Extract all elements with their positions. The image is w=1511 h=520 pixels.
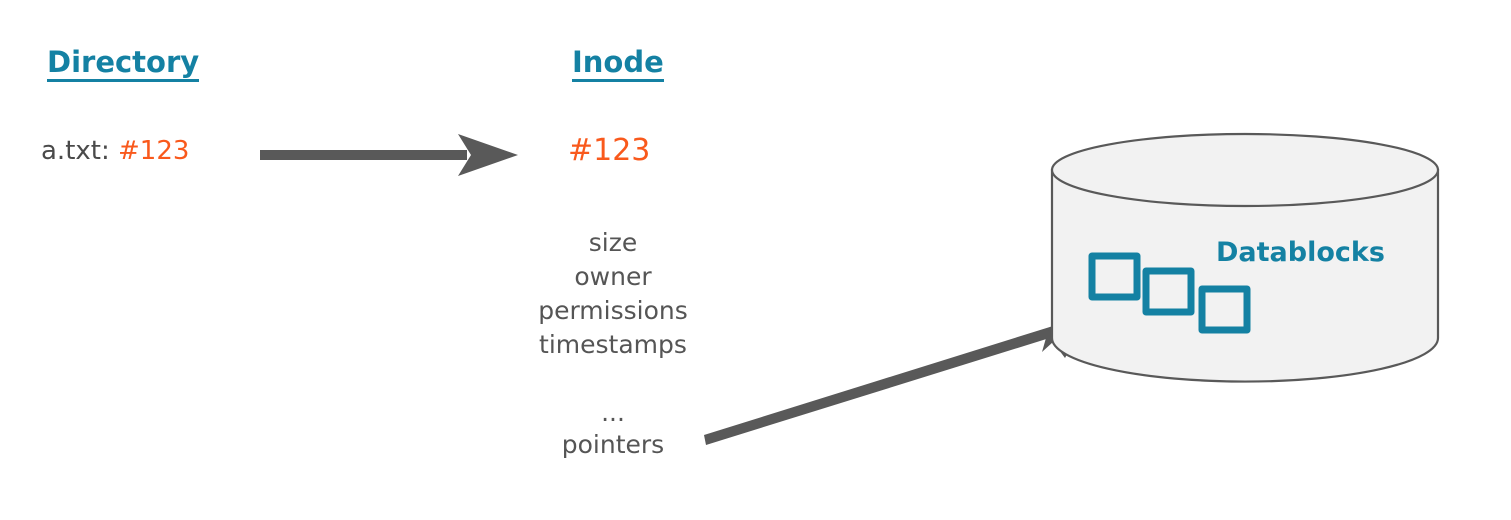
inode-heading: Inode [572,48,664,82]
datablock-square-2 [1146,271,1191,312]
inode-field-size: size [493,226,733,260]
directory-heading-label: Directory [47,48,199,82]
directory-heading: Directory [47,48,199,82]
datablock-square-3 [1202,289,1247,330]
diagram-canvas: Directory Inode a.txt: #123 #123 size ow… [0,0,1511,520]
arrow-directory-to-inode-icon [258,128,543,184]
datablocks-label: Datablocks [1216,239,1385,266]
arrow-pointers-to-datablocks [690,300,1100,460]
inode-field-owner: owner [493,260,733,294]
inode-heading-label: Inode [572,48,664,82]
directory-entry-filename: a.txt: [41,136,110,166]
arrow-directory-to-inode [258,128,543,184]
directory-entry: a.txt: #123 [41,138,189,164]
inode-number: #123 [568,136,650,166]
datablock-square-1 [1092,256,1137,297]
directory-entry-inode-number: #123 [118,136,189,166]
arrow-pointers-to-datablocks-icon [690,300,1100,460]
